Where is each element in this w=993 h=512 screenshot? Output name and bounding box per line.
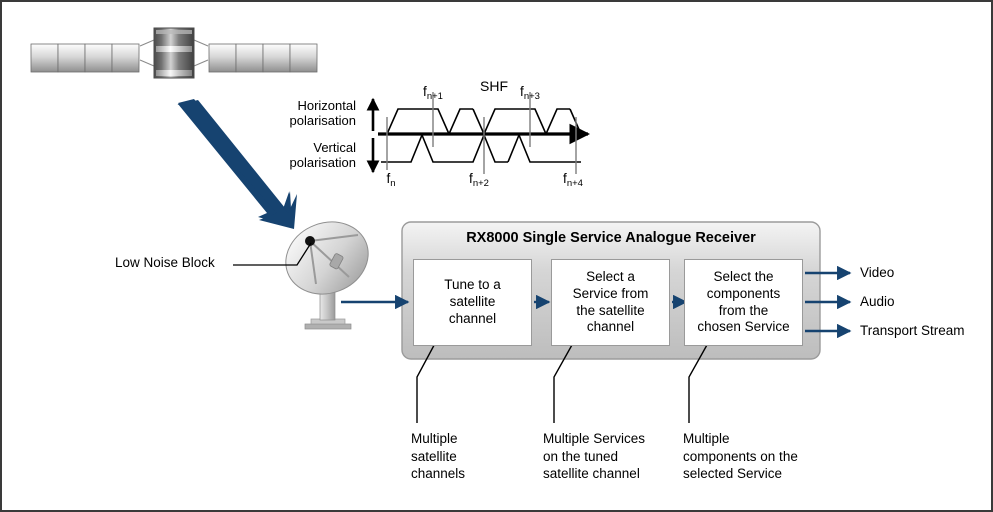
solar-panel-left <box>31 44 139 72</box>
output-label-video: Video <box>860 265 894 281</box>
receiver-stage-select-components[interactable]: Select the components from the chosen Se… <box>684 259 803 346</box>
spectrum-diagram <box>373 92 588 174</box>
receiver-title: RX8000 Single Service Analogue Receiver <box>406 230 816 247</box>
freq-sub: n+3 <box>524 91 540 102</box>
freq-sub: n+1 <box>427 91 443 102</box>
freq-sub: n+2 <box>473 178 489 189</box>
stage-label: Tune to a satellite channel <box>444 277 501 328</box>
vertical-polarisation-label: Vertical polarisation <box>256 140 356 171</box>
stage-label: Select a Service from the satellite chan… <box>573 269 649 337</box>
freq-tick-label-n2: fn+2 <box>457 171 501 187</box>
annotation-multiple-satellite-channels: Multiple satellite channels <box>411 430 465 483</box>
freq-tick-label-n1: fn+1 <box>411 84 455 100</box>
receiver-stage-select-service[interactable]: Select a Service from the satellite chan… <box>551 259 670 346</box>
freq-tick-label-n3: fn+3 <box>508 84 552 100</box>
freq-tick-label-n: fn <box>373 171 409 187</box>
freq-sub: n <box>390 178 395 189</box>
satellite-graphic <box>31 28 317 78</box>
diagram-canvas: Horizontal polarisation Vertical polaris… <box>0 0 993 512</box>
output-label-audio: Audio <box>860 294 895 310</box>
satellite-dish-graphic <box>233 210 379 329</box>
annotation-multiple-services: Multiple Services on the tuned satellite… <box>543 430 645 483</box>
annotation-multiple-components: Multiple components on the selected Serv… <box>683 430 798 483</box>
stage-label: Select the components from the chosen Se… <box>697 269 789 337</box>
freq-tick-label-n4: fn+4 <box>551 171 595 187</box>
receiver-stage-tune[interactable]: Tune to a satellite channel <box>413 259 532 346</box>
horizontal-polarisation-label: Horizontal polarisation <box>256 98 356 129</box>
low-noise-block-label: Low Noise Block <box>115 255 215 271</box>
vertical-polarisation-trace <box>381 135 581 162</box>
satellite-body <box>154 28 194 78</box>
solar-panel-right <box>209 44 317 72</box>
output-label-transport-stream: Transport Stream <box>860 323 965 339</box>
freq-sub: n+4 <box>567 178 583 189</box>
